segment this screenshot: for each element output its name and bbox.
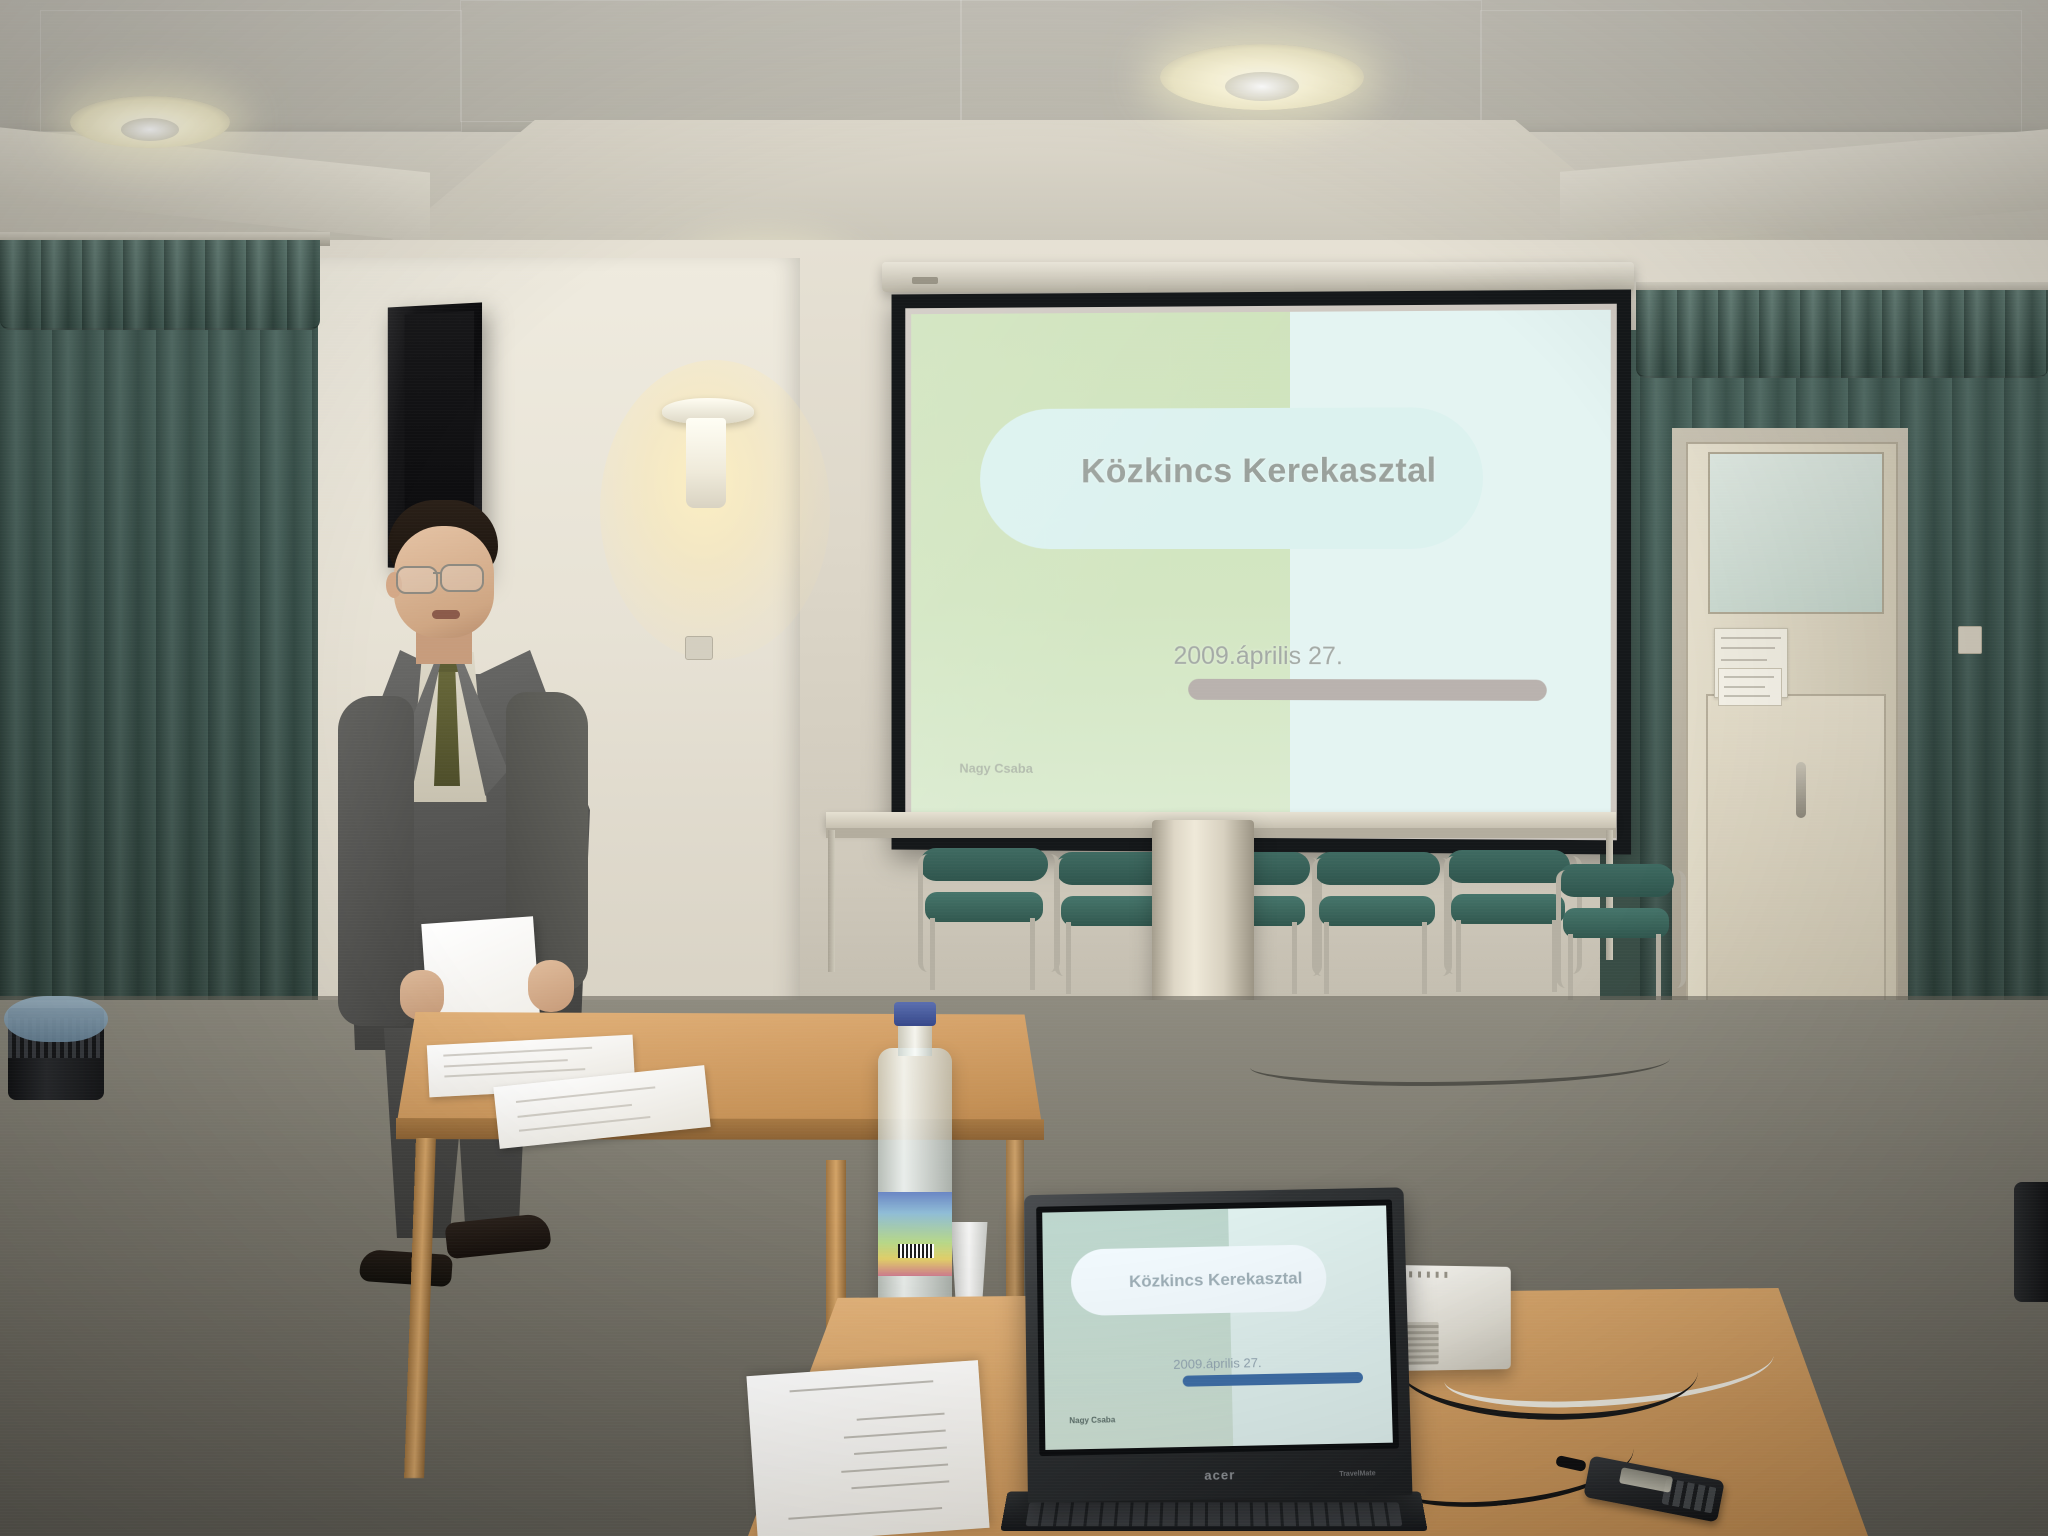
laptop-bezel: Közkincs Kerekasztal 2009.április 27. Na…	[1036, 1199, 1399, 1456]
mouth	[432, 610, 460, 619]
door-notice-small	[1718, 668, 1782, 706]
arm-left	[338, 696, 414, 1026]
wall-sconce-body	[686, 418, 726, 508]
slide-green-block	[911, 312, 1289, 832]
chair-leg	[1456, 920, 1461, 992]
laptop-keyboard[interactable]	[1026, 1502, 1403, 1526]
ceiling-tile	[1480, 10, 2022, 137]
presentation-slide: Közkincs Kerekasztal 2009.április 27. Na…	[911, 310, 1611, 834]
laptop-slide-green-block	[1042, 1209, 1233, 1450]
projection-screen-housing	[882, 262, 1634, 292]
chair-leg	[1030, 918, 1035, 990]
edge-object	[2014, 1182, 2048, 1302]
projection-screen-surface: Közkincs Kerekasztal 2009.április 27. Na…	[905, 304, 1617, 841]
bottle-label	[878, 1192, 952, 1276]
curtain-left[interactable]	[0, 250, 318, 1080]
bottle-cap	[894, 1002, 936, 1026]
door-panel	[1706, 694, 1886, 1028]
laptop-screen[interactable]: Közkincs Kerekasztal 2009.április 27. Na…	[1042, 1205, 1393, 1450]
chair-seat	[1319, 896, 1435, 926]
screenshot-root: Közkincs Kerekasztal 2009.április 27. Na…	[0, 0, 2048, 1536]
chair-seat	[1563, 908, 1670, 938]
projector-indicator-icon	[1409, 1271, 1448, 1278]
ceiling-downlight-icon	[70, 96, 230, 148]
eyeglasses-lens-right	[440, 564, 484, 592]
chair-seat	[1451, 894, 1565, 924]
printed-handout	[746, 1360, 989, 1536]
curtain-valance-right	[1636, 290, 2048, 378]
chair-seat	[925, 892, 1043, 922]
screen-pull-knob[interactable]	[912, 277, 938, 284]
laptop-model-label: TravelMate	[1339, 1470, 1376, 1478]
slide-title: Közkincs Kerekasztal	[911, 451, 1611, 492]
slide-accent-bar	[1188, 678, 1547, 701]
curtain-valance-left	[0, 240, 320, 330]
waste-bin-liner	[4, 996, 108, 1042]
chair-leg	[1422, 922, 1427, 994]
door-glass-pane	[1708, 452, 1884, 614]
barcode-icon	[898, 1244, 934, 1258]
hand-right	[528, 960, 574, 1012]
ceiling-tile	[460, 0, 962, 122]
door-handle[interactable]	[1796, 762, 1806, 818]
slide-date: 2009.április 27.	[911, 642, 1611, 672]
shoe-left	[359, 1249, 453, 1287]
light-switch-icon[interactable]	[1958, 626, 1982, 654]
eyeglasses-lens-left	[396, 566, 438, 594]
laptop[interactable]: Közkincs Kerekasztal 2009.április 27. Na…	[1024, 1187, 1412, 1503]
slide-author: Nagy Csaba	[959, 760, 1032, 775]
shoe-right	[444, 1213, 551, 1260]
chair-leg	[1066, 922, 1071, 994]
presenter-person	[330, 500, 610, 1260]
chair-leg	[1292, 922, 1297, 994]
ceiling-soffit-center	[380, 120, 1670, 250]
projection-screen: Közkincs Kerekasztal 2009.április 27. Na…	[892, 289, 1632, 854]
wall-outlet-icon[interactable]	[685, 636, 713, 660]
laptop-slide-author: Nagy Csaba	[1069, 1415, 1115, 1425]
chair-leg	[930, 918, 935, 990]
back-table-leg	[828, 830, 835, 972]
ceiling-downlight-icon	[1160, 44, 1364, 110]
chair-leg	[1324, 922, 1329, 994]
eyeglasses-bridge	[433, 572, 442, 574]
